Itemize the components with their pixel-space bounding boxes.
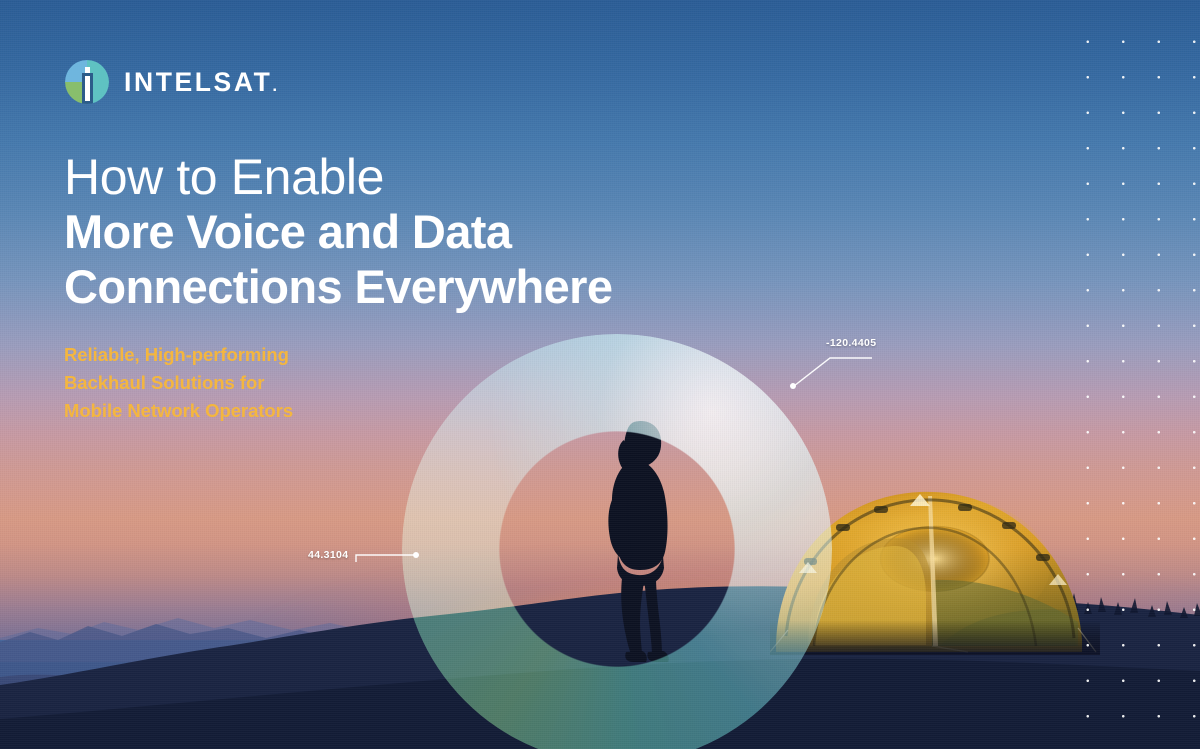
headline-line-1: How to Enable	[64, 150, 764, 204]
subtitle-line-2: Backhaul Solutions for	[64, 369, 293, 397]
headline-line-3: Connections Everywhere	[64, 259, 764, 314]
cover-page: -120.4405 44.3104	[0, 0, 1200, 749]
intelsat-circle-i-logo-icon	[64, 59, 110, 105]
leader-line-longitude-icon	[780, 348, 960, 398]
brand-lockup[interactable]: INTELSAT.	[64, 59, 277, 105]
brand-wordmark: INTELSAT.	[124, 69, 277, 96]
annotation-latitude: 44.3104	[308, 544, 433, 574]
subtitle-line-3: Mobile Network Operators	[64, 397, 293, 425]
brand-trademark-mark: .	[272, 76, 277, 95]
dot-grid-pattern	[1064, 18, 1200, 749]
annotation-longitude-label: -120.4405	[826, 337, 876, 349]
leader-line-latitude-icon	[308, 544, 433, 574]
page-title: How to Enable More Voice and Data Connec…	[64, 150, 764, 315]
subtitle-line-1: Reliable, High-performing	[64, 341, 293, 369]
annotation-longitude: -120.4405	[780, 348, 960, 398]
gradient-ring-graphic	[402, 334, 832, 749]
page-subtitle: Reliable, High-performing Backhaul Solut…	[64, 341, 293, 424]
brand-name-text: INTELSAT	[124, 67, 272, 97]
headline-line-2: More Voice and Data	[64, 204, 764, 259]
